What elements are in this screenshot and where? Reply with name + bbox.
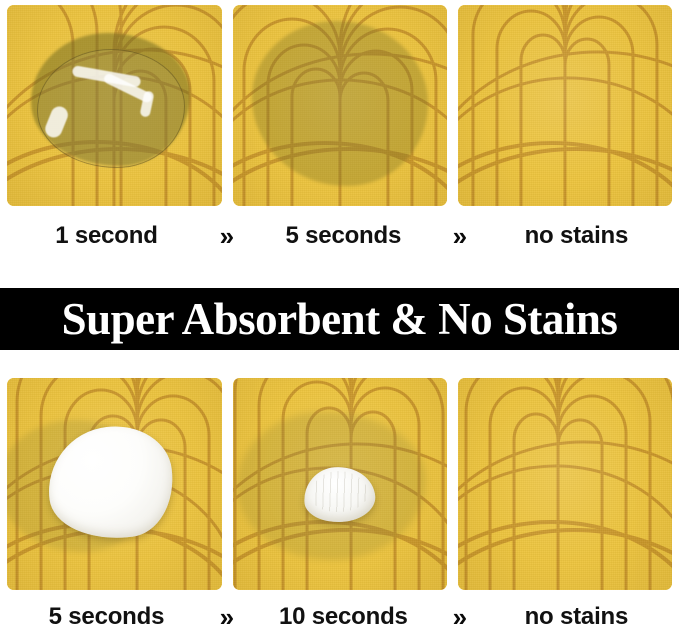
liquid-test-panel-row bbox=[0, 5, 679, 206]
panel-5-seconds bbox=[7, 378, 222, 590]
headline-banner: Super Absorbent & No Stains bbox=[0, 288, 679, 350]
arch-pattern-svg bbox=[233, 5, 447, 206]
chevron-right-icon: » bbox=[213, 223, 241, 249]
arch-pattern-fabric bbox=[7, 378, 222, 590]
panel-10-seconds bbox=[233, 378, 447, 590]
arch-pattern-fabric bbox=[458, 5, 672, 206]
caption-10-seconds: 10 seconds bbox=[241, 603, 446, 631]
arch-pattern-fabric bbox=[233, 5, 447, 206]
arch-pattern-svg bbox=[7, 378, 222, 590]
arch-pattern-svg bbox=[7, 5, 222, 206]
chevron-right-icon: » bbox=[446, 604, 474, 630]
arch-pattern-fabric bbox=[7, 5, 222, 206]
headline-text: Super Absorbent & No Stains bbox=[62, 297, 618, 342]
caption-no-stains: no stains bbox=[474, 603, 679, 631]
chevron-right-icon: » bbox=[446, 223, 474, 249]
panel-no-stains bbox=[458, 378, 672, 590]
caption-5-seconds: 5 seconds bbox=[0, 603, 213, 631]
cream-test-caption-row: 5 seconds » 10 seconds » no stains bbox=[0, 594, 679, 640]
panel-5-seconds bbox=[233, 5, 447, 206]
cream-test-panel-row bbox=[0, 378, 679, 590]
caption-no-stains: no stains bbox=[474, 222, 679, 250]
panel-1-second bbox=[7, 5, 222, 206]
caption-1-second: 1 second bbox=[0, 222, 213, 250]
arch-pattern-svg bbox=[458, 378, 672, 590]
liquid-test-caption-row: 1 second » 5 seconds » no stains bbox=[0, 213, 679, 259]
panel-no-stains bbox=[458, 5, 672, 206]
caption-5-seconds: 5 seconds bbox=[241, 222, 446, 250]
arch-pattern-fabric bbox=[233, 378, 447, 590]
arch-pattern-svg bbox=[233, 378, 447, 590]
arch-pattern-fabric bbox=[458, 378, 672, 590]
chevron-right-icon: » bbox=[213, 604, 241, 630]
product-feature-graphic: 1 second » 5 seconds » no stains Super A… bbox=[0, 0, 679, 636]
arch-pattern-svg bbox=[458, 5, 672, 206]
